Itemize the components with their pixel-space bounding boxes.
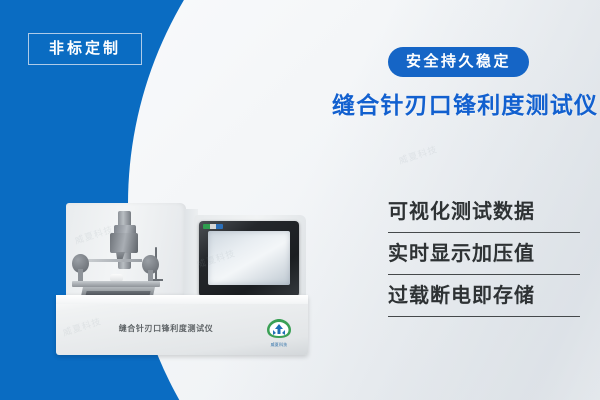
fixture-head	[110, 233, 138, 253]
page-title: 缝合针刃口锋利度测试仪	[332, 92, 598, 120]
product-banner: 非标定制 安全持久稳定 缝合针刃口锋利度测试仪 可视化测试数据 实时显示加压值 …	[0, 0, 600, 400]
hmi-brand-strip-icon	[203, 224, 223, 229]
fixture-cross-arm	[80, 259, 142, 262]
list-item: 实时显示加压值	[388, 242, 584, 275]
instrument-base-top-edge	[56, 295, 308, 304]
list-item: 可视化测试数据	[388, 200, 584, 233]
feature-list: 可视化测试数据 实时显示加压值 过载断电即存储	[388, 200, 584, 326]
instrument-base-label: 缝合针刃口锋利度测试仪	[56, 323, 276, 334]
feature-label: 可视化测试数据	[388, 200, 584, 225]
brand-logo-text: 威夏科技	[262, 342, 296, 348]
feature-label: 实时显示加压值	[388, 242, 584, 267]
product-instrument: 缝合针刃口锋利度测试仪 威夏科技	[56, 203, 308, 355]
feature-divider	[388, 274, 580, 275]
list-item: 过载断电即存储	[388, 284, 584, 317]
feature-divider	[388, 232, 580, 233]
custom-order-badge: 非标定制	[28, 33, 142, 65]
tagline-pill-badge: 安全持久稳定	[388, 47, 529, 77]
instrument-touchscreen[interactable]	[208, 231, 290, 285]
feature-label: 过载断电即存储	[388, 284, 584, 309]
feature-divider	[388, 316, 580, 317]
